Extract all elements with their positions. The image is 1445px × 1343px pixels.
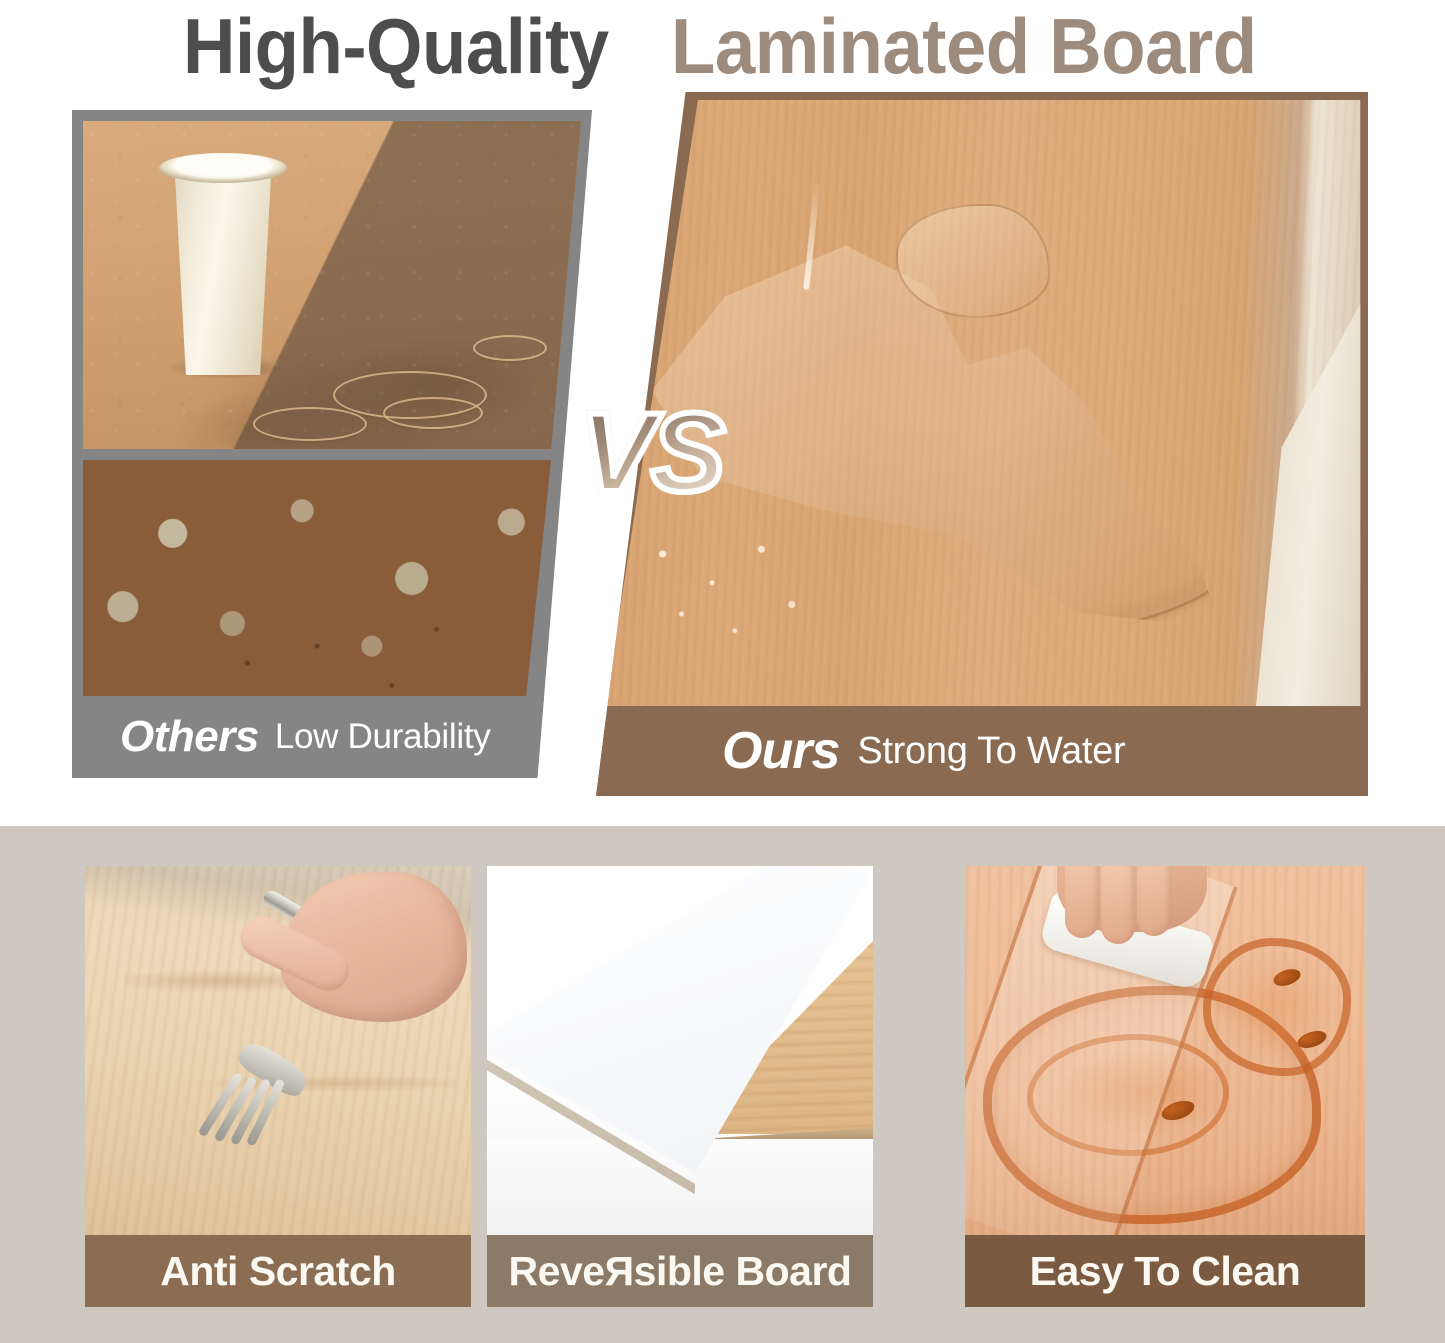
mirrored-r-glyph: R bbox=[605, 1248, 634, 1295]
others-label-bar: Others Low Durability bbox=[72, 696, 592, 778]
feature-label-bar: Easy To Clean bbox=[965, 1235, 1365, 1307]
feature-label-text: ReveRsible Board bbox=[509, 1248, 852, 1295]
wipe-sauce-photo bbox=[965, 866, 1365, 1235]
feature-label-text: Easy To Clean bbox=[1030, 1248, 1301, 1295]
comparison-section: Ours Strong To Water Others Low Durabili… bbox=[0, 92, 1445, 804]
others-title: Others bbox=[120, 712, 259, 762]
finger bbox=[1065, 866, 1099, 938]
feature-card-reversible-board: ReveRsible Board bbox=[487, 866, 873, 1307]
reversible-board-photo bbox=[487, 866, 873, 1235]
others-subtitle: Low Durability bbox=[275, 717, 491, 757]
feature-card-anti-scratch: Anti Scratch bbox=[85, 866, 471, 1307]
others-panel: Others Low Durability bbox=[72, 110, 592, 778]
liquid-ripple bbox=[253, 407, 367, 441]
feature-label-bar: Anti Scratch bbox=[85, 1235, 471, 1307]
finger bbox=[1101, 866, 1135, 944]
water-droplets bbox=[636, 530, 826, 650]
liquid-ripple bbox=[383, 397, 483, 429]
feature-card-easy-to-clean: Easy To Clean bbox=[965, 866, 1365, 1307]
label-part-post: sible Board bbox=[634, 1248, 852, 1294]
finger bbox=[1137, 866, 1171, 936]
features-section: Anti Scratch ReveRsible Board bbox=[0, 826, 1445, 1343]
liquid-ripple bbox=[473, 335, 547, 361]
ours-label-bar: Ours Strong To Water bbox=[596, 706, 1368, 796]
spilled-drink-photo bbox=[83, 121, 581, 449]
ours-subtitle: Strong To Water bbox=[857, 730, 1125, 773]
paper-cup-rim bbox=[159, 153, 287, 183]
page-title-primary: High-Quality bbox=[183, 7, 609, 85]
feature-label-text: Anti Scratch bbox=[160, 1248, 396, 1295]
water-spill-secondary bbox=[896, 204, 1050, 318]
sauce-stain-right bbox=[1203, 938, 1351, 1076]
board-edge-face bbox=[1248, 108, 1368, 706]
paper-cup bbox=[165, 163, 281, 375]
ours-title: Ours bbox=[722, 721, 839, 781]
label-part-pre: Reve bbox=[509, 1248, 605, 1294]
feature-label-bar: ReveRsible Board bbox=[487, 1235, 873, 1307]
page-title-secondary: Laminated Board bbox=[671, 7, 1257, 85]
page-title: High-Quality Laminated Board bbox=[0, 0, 1445, 92]
vs-badge: VS bbox=[580, 397, 721, 509]
fork-scratch-photo bbox=[85, 866, 471, 1235]
